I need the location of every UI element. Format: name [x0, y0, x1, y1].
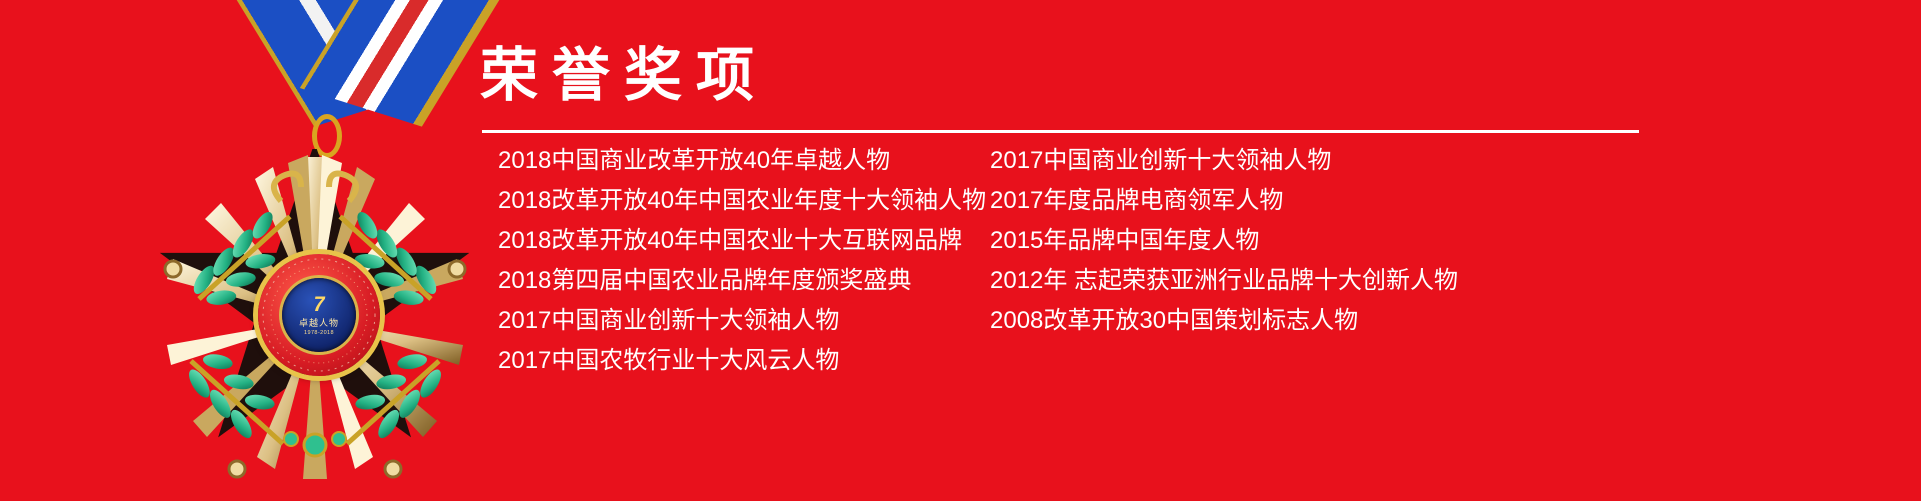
award-item: 2012年 志起荣获亚洲行业品牌十大创新人物 — [980, 262, 1500, 302]
award-item: 2015年品牌中国年度人物 — [980, 222, 1500, 262]
award-item: 2017年度品牌电商领军人物 — [980, 182, 1500, 222]
award-item: 2018第四届中国农业品牌年度颁奖盛典 — [480, 262, 980, 302]
award-item: 2017中国商业创新十大领袖人物 — [980, 142, 1500, 182]
banner-content: 荣誉奖项 2018中国商业改革开放40年卓越人物 2018改革开放40年中国农业… — [480, 0, 1921, 501]
medal-center-label: 卓越人物 — [299, 316, 339, 329]
medal-center-years: 1978-2018 — [304, 330, 334, 336]
award-item: 2018改革开放40年中国农业年度十大领袖人物 — [480, 182, 980, 222]
awards-right-column: 2017中国商业创新十大领袖人物 2017年度品牌电商领军人物 2015年品牌中… — [980, 142, 1500, 382]
award-item: 2017中国农牧行业十大风云人物 — [480, 342, 980, 382]
medal-ribbon — [258, 0, 438, 134]
medal-center-inner: 7 卓越人物 1978-2018 — [282, 278, 356, 352]
title-divider — [482, 130, 1639, 133]
medal-center-disc: 7 卓越人物 1978-2018 — [258, 254, 380, 376]
awards-list: 2018中国商业改革开放40年卓越人物 2018改革开放40年中国农业年度十大领… — [480, 142, 1910, 382]
honor-awards-banner: 7 卓越人物 1978-2018 荣誉奖项 2018中国商业改革开放40年卓越人… — [0, 0, 1921, 501]
awards-left-column: 2018中国商业改革开放40年卓越人物 2018改革开放40年中国农业年度十大领… — [480, 142, 980, 382]
page-title: 荣誉奖项 — [480, 44, 768, 108]
medal-logo-glyph: 7 — [311, 295, 326, 315]
medal-body: 7 卓越人物 1978-2018 — [140, 144, 490, 494]
honor-medal-graphic: 7 卓越人物 1978-2018 — [140, 0, 490, 501]
award-item: 2017中国商业创新十大领袖人物 — [480, 302, 980, 342]
award-item: 2018中国商业改革开放40年卓越人物 — [480, 142, 980, 182]
award-item: 2018改革开放40年中国农业十大互联网品牌 — [480, 222, 980, 262]
award-item: 2008改革开放30中国策划标志人物 — [980, 302, 1500, 342]
